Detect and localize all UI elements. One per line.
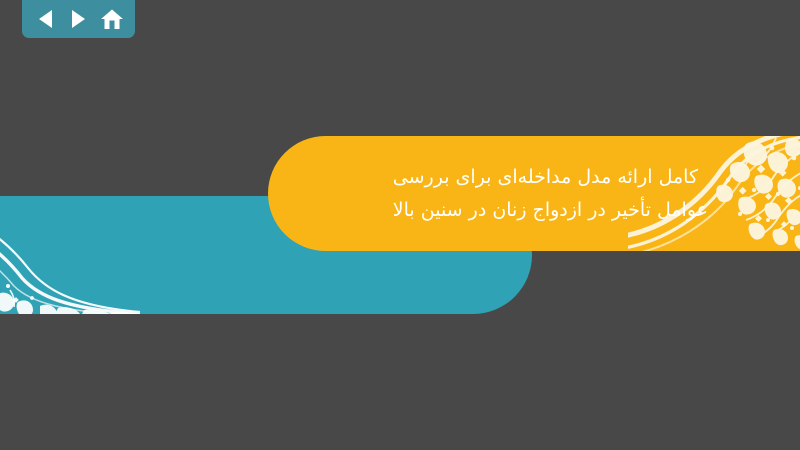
yellow-title-band: کامل ارائه مدل مداخله‌ای برای بررسی عوام… <box>268 136 800 251</box>
triangle-left-icon <box>39 10 52 28</box>
slide-title: کامل ارائه مدل مداخله‌ای برای بررسی عوام… <box>393 136 708 251</box>
home-icon <box>100 8 124 30</box>
arabesque-floral-ornament-bottom-left <box>0 196 140 314</box>
home-button[interactable] <box>98 6 126 31</box>
slide-canvas: کامل ارائه مدل مداخله‌ای برای بررسی عوام… <box>0 0 800 450</box>
navigation-bar <box>22 0 135 38</box>
forward-button[interactable] <box>65 6 93 31</box>
title-line-2: عوامل تأخیر در ازدواج زنان در سنین بالا <box>393 194 708 227</box>
back-button[interactable] <box>31 6 59 31</box>
triangle-right-icon <box>72 10 85 28</box>
title-line-1: کامل ارائه مدل مداخله‌ای برای بررسی <box>393 161 698 194</box>
